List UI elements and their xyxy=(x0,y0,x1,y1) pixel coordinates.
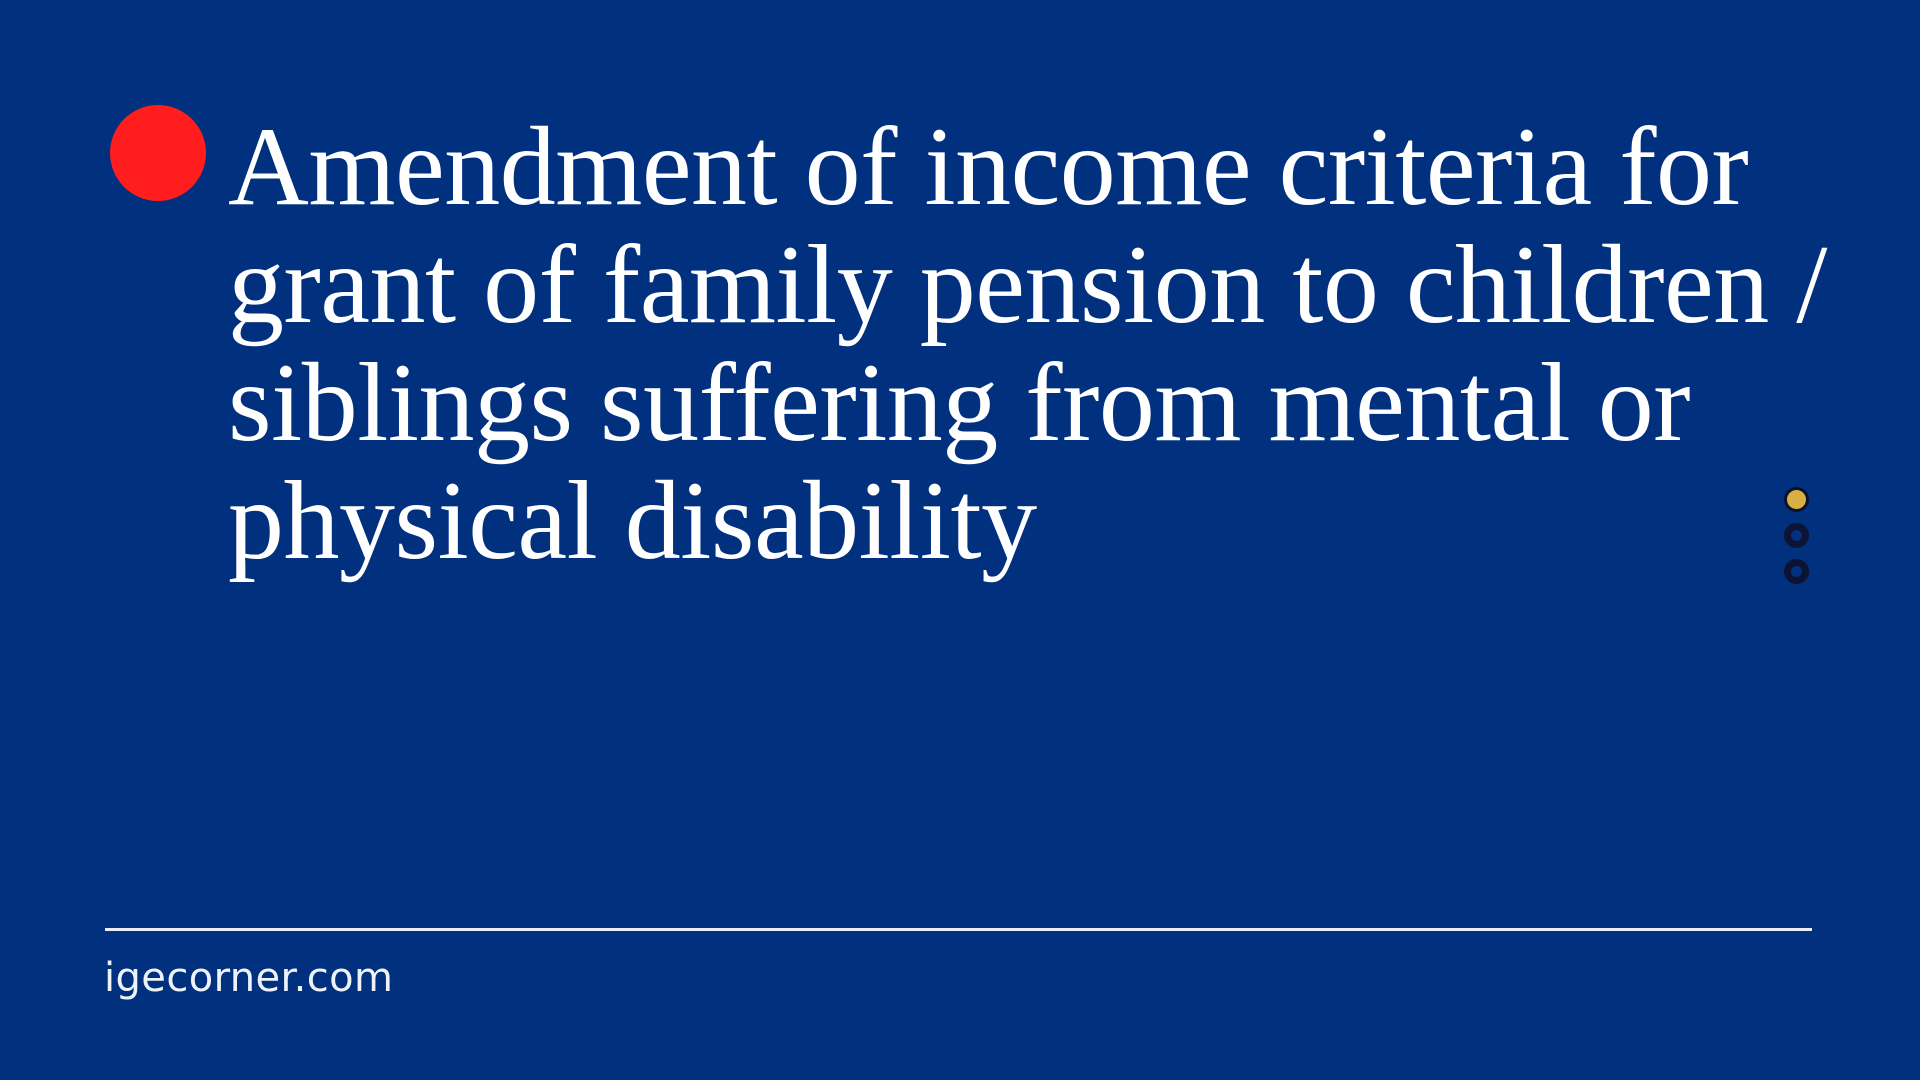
filled-circle-bullet-icon xyxy=(110,105,206,201)
slide-headline: Amendment of income criteria for grant o… xyxy=(228,108,1828,580)
indicator-dot-icon[interactable] xyxy=(1784,523,1809,548)
page-indicator-dots xyxy=(1783,487,1809,584)
footer-divider xyxy=(105,928,1812,931)
footer-site-name: igecorner.com xyxy=(104,955,393,1001)
indicator-dot-active-icon[interactable] xyxy=(1784,487,1809,512)
indicator-dot-icon[interactable] xyxy=(1784,559,1809,584)
presentation-slide: Amendment of income criteria for grant o… xyxy=(0,0,1920,1080)
